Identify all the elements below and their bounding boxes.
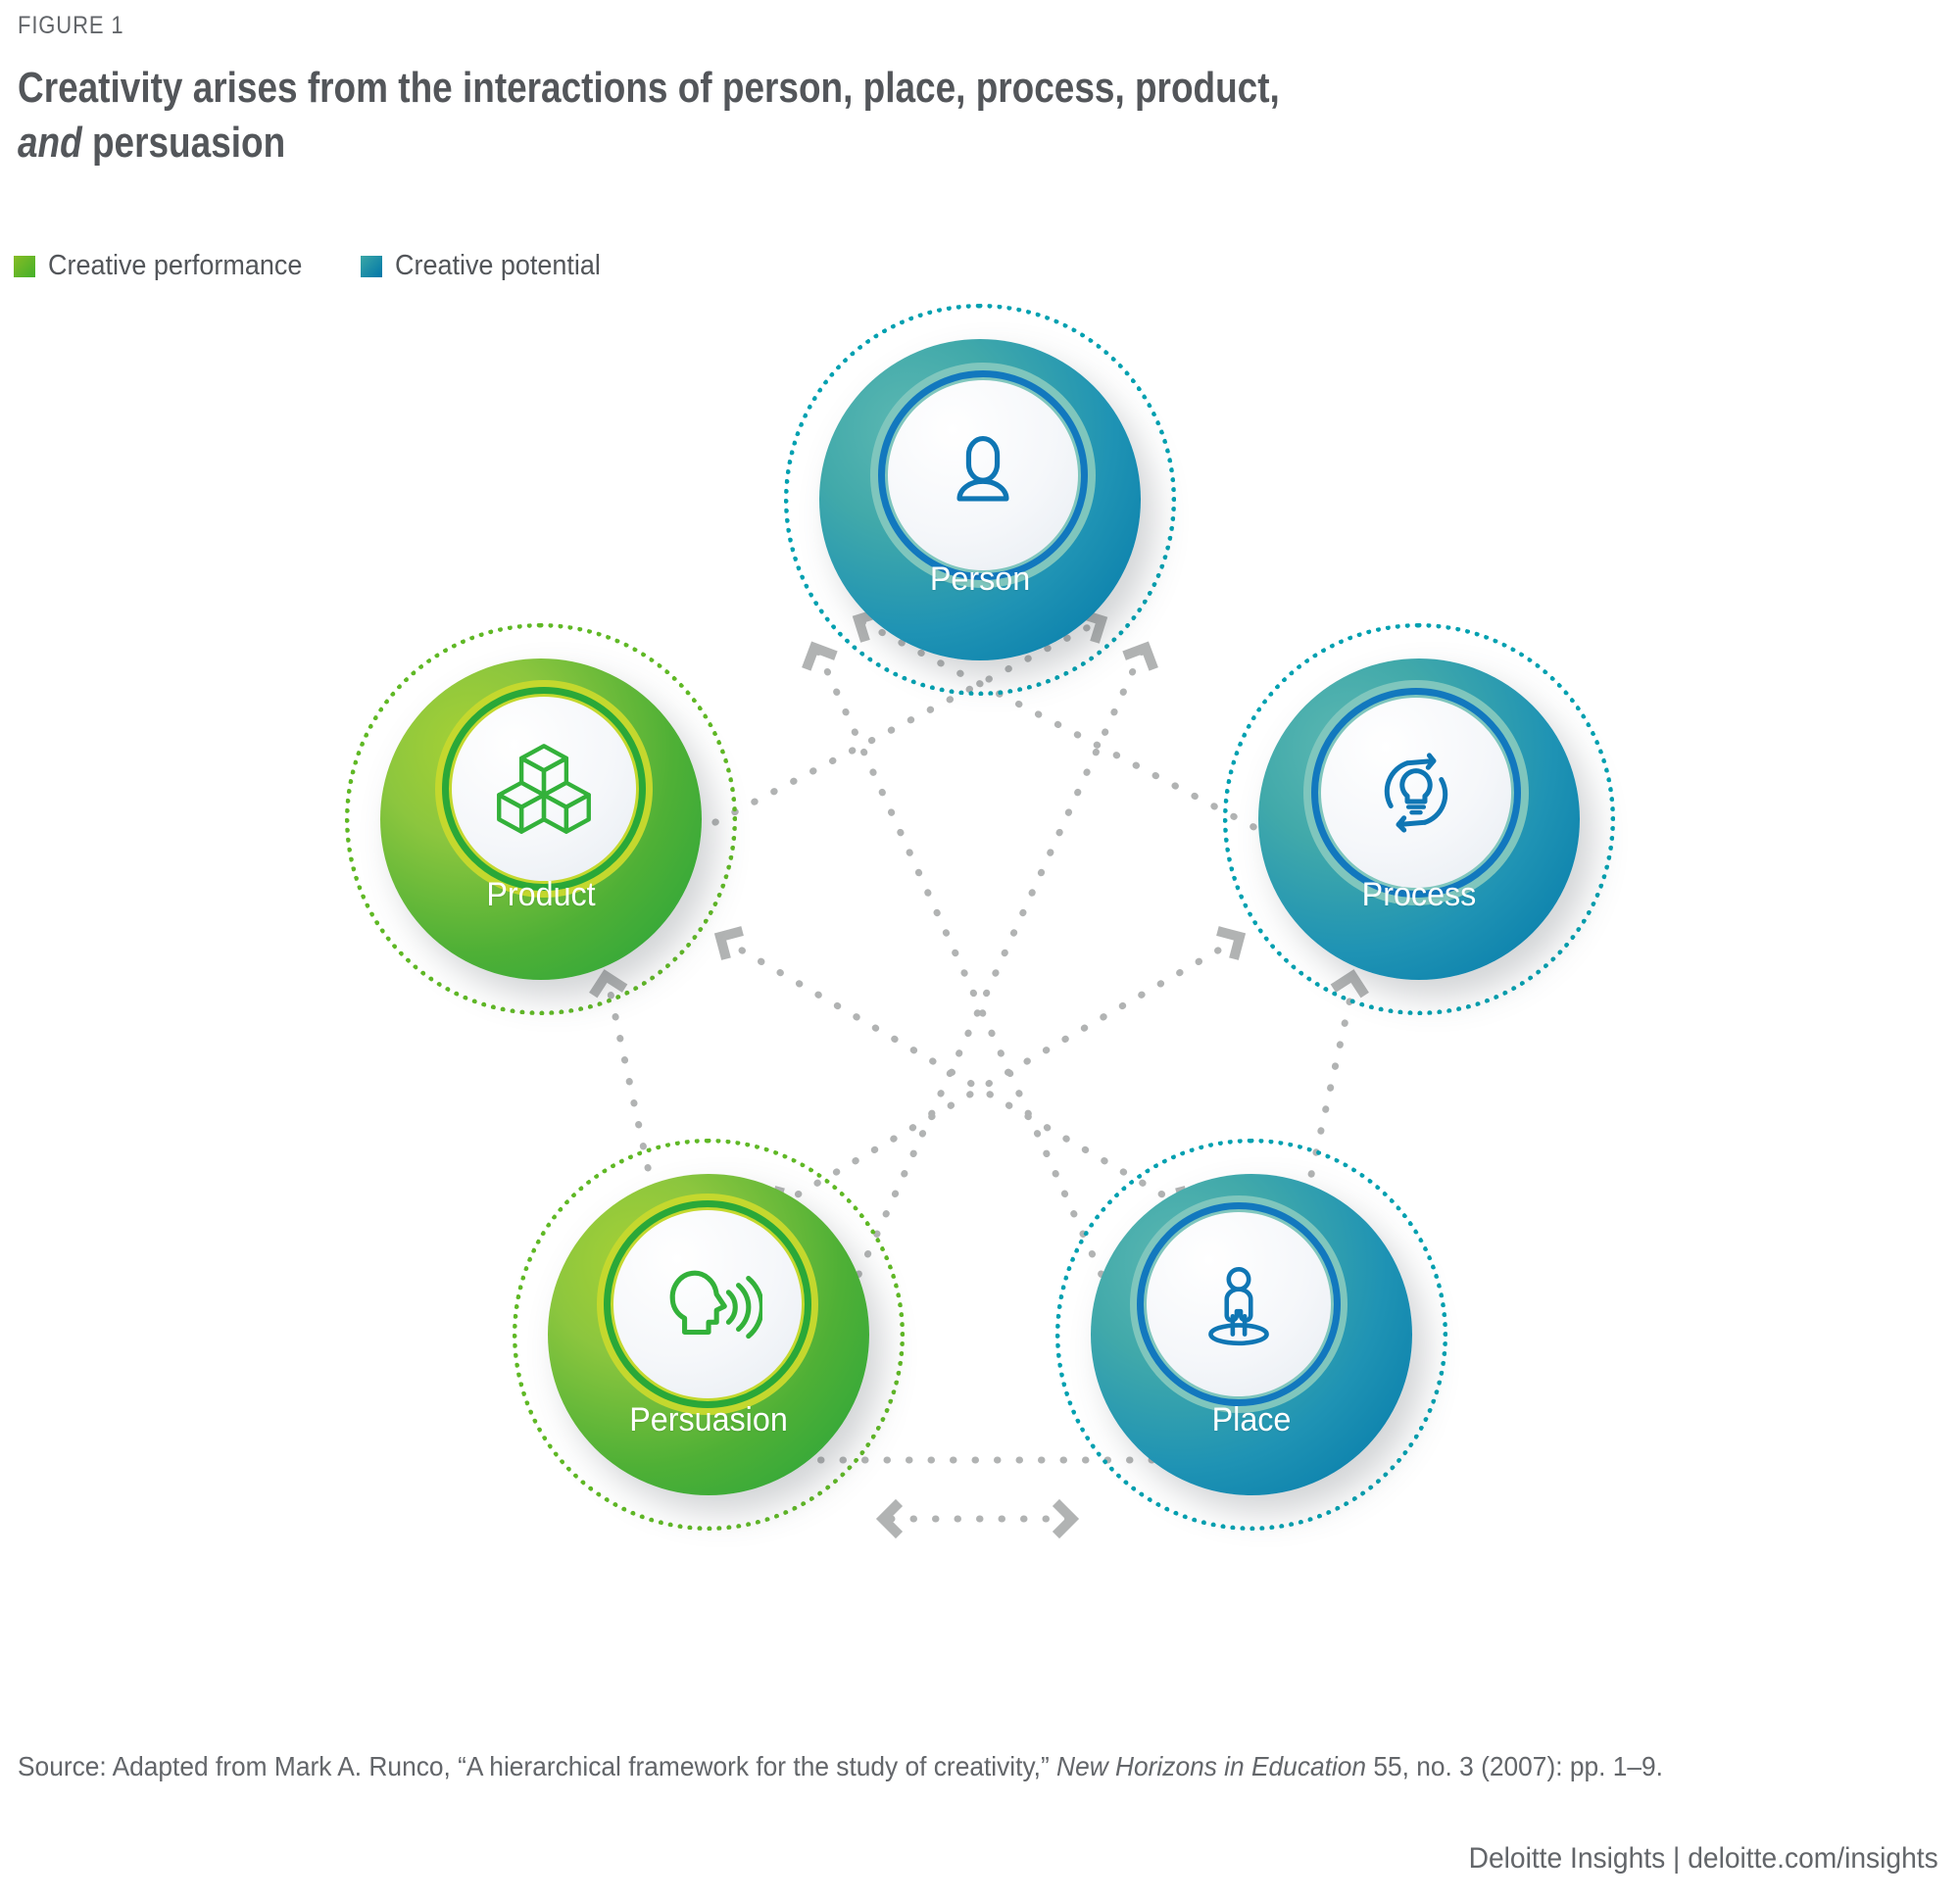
- figure-page: FIGURE 1 Creativity arises from the inte…: [0, 0, 1960, 1901]
- persuasion-icon-disc: [613, 1210, 802, 1398]
- source-prefix: Source: Adapted from Mark A. Runco, “A h…: [18, 1751, 1056, 1781]
- process-icon-disc: [1321, 698, 1511, 888]
- user-icon: [932, 424, 1034, 526]
- persuasion-sphere: [548, 1174, 869, 1495]
- legend-label-creative-performance: Creative performance: [48, 250, 302, 282]
- place-sphere: [1091, 1174, 1412, 1495]
- product-icon-disc: [452, 697, 636, 881]
- place-icon-disc: [1147, 1212, 1331, 1396]
- node-label-place: Place: [1065, 1401, 1438, 1439]
- speaking-head-icon: [653, 1249, 762, 1359]
- legend: Creative performance Creative potential: [14, 250, 616, 282]
- brand-footer: Deloitte Insights | deloitte.com/insight…: [1469, 1842, 1938, 1876]
- node-place[interactable]: Place: [1055, 1139, 1447, 1531]
- node-product[interactable]: Product: [345, 623, 737, 1015]
- figure-number-label: FIGURE 1: [18, 12, 124, 40]
- source-journal-title: New Horizons in Education: [1056, 1751, 1366, 1781]
- blue-gradient-swatch-icon: [361, 256, 382, 277]
- title-emphasis-and: and: [18, 119, 82, 167]
- source-suffix: 55, no. 3 (2007): pp. 1–9.: [1366, 1751, 1663, 1781]
- source-note: Source: Adapted from Mark A. Runco, “A h…: [18, 1746, 1795, 1788]
- person-location-icon: [1189, 1254, 1289, 1354]
- person-sphere: [819, 339, 1141, 660]
- process-sphere: [1258, 658, 1580, 980]
- node-label-person: Person: [794, 561, 1166, 599]
- title-line-1: Creativity arises from the interactions …: [18, 64, 1280, 112]
- node-persuasion[interactable]: Persuasion: [513, 1139, 905, 1531]
- legend-label-creative-potential: Creative potential: [395, 250, 601, 282]
- legend-item-creative-performance[interactable]: Creative performance: [14, 250, 321, 282]
- page-title: Creativity arises from the interactions …: [18, 61, 1631, 171]
- node-label-product: Product: [355, 876, 727, 914]
- node-process[interactable]: Process: [1223, 623, 1615, 1015]
- title-line-2-rest: persuasion: [82, 119, 285, 167]
- creativity-pentagon-diagram: Person: [0, 294, 1960, 1705]
- node-label-process: Process: [1233, 876, 1605, 914]
- person-icon-disc: [888, 380, 1078, 570]
- cubes-icon: [493, 738, 595, 840]
- node-person[interactable]: Person: [784, 304, 1176, 696]
- node-label-persuasion: Persuasion: [522, 1401, 895, 1439]
- idea-cycle-icon: [1361, 738, 1471, 848]
- legend-item-creative-potential[interactable]: Creative potential: [361, 250, 616, 282]
- green-gradient-swatch-icon: [14, 256, 35, 277]
- product-sphere: [380, 658, 702, 980]
